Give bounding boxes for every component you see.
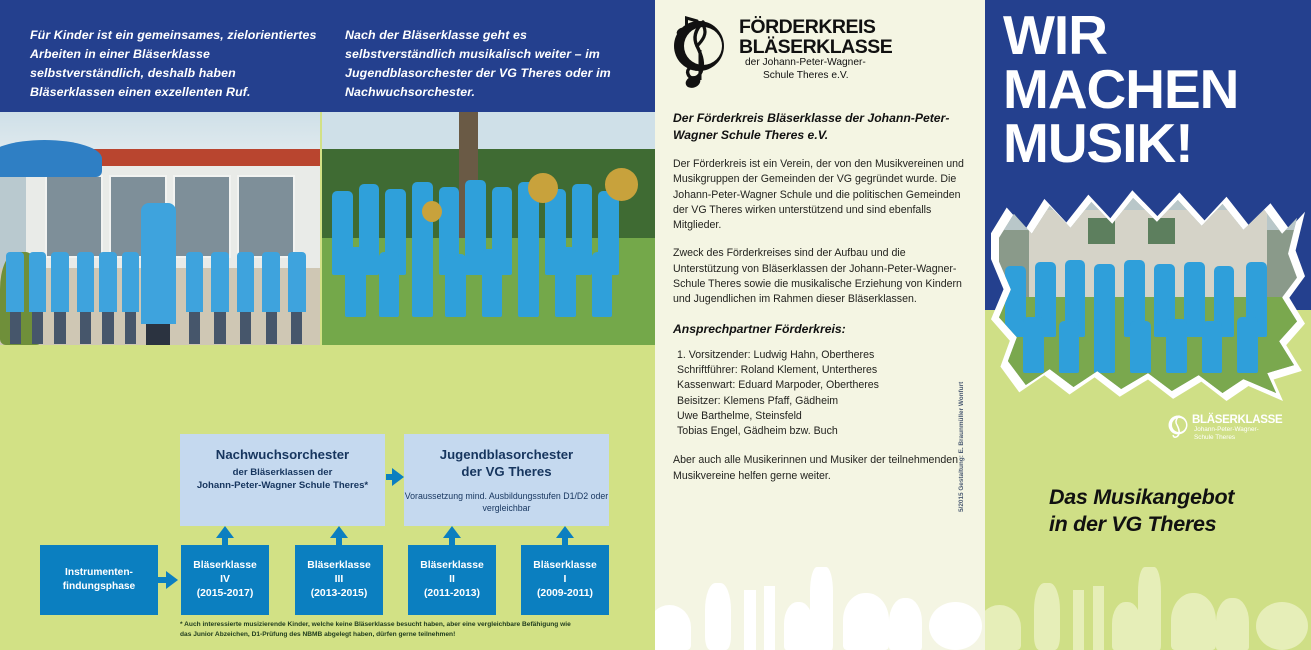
clarinet-silhouette-icon <box>1073 590 1084 650</box>
logo-wordmark: FÖRDERKREIS BLÄSERKLASSE der Johann-Pete… <box>739 18 892 82</box>
middle-paragraph-2: Zweck des Förderkreises sind der Aufbau … <box>673 246 967 307</box>
student <box>1237 317 1258 373</box>
class-box-blaeserklasse-ii: Bläserklasse II (2011-2013) <box>408 545 496 615</box>
euphonium-silhouette-icon <box>889 598 922 650</box>
logo-line-3: der Johann-Peter-Wagner- <box>739 57 892 70</box>
student <box>1023 317 1044 373</box>
student <box>345 247 366 317</box>
arrow-up-icon <box>216 526 234 538</box>
orchestra-title: Jugendblasorchester <box>404 446 609 463</box>
student <box>518 254 539 317</box>
brochure-page: Für Kinder ist ein gemeinsames, zielorie… <box>0 0 1311 650</box>
tuba <box>605 168 638 201</box>
class-line-2: findungsphase <box>63 580 135 594</box>
class-line-3: (2009-2011) <box>533 587 597 601</box>
class-box-blaeserklasse-i: Bläserklasse I (2009-2011) <box>521 545 609 615</box>
window <box>237 175 295 258</box>
photo-school-performance <box>0 112 320 345</box>
class-line-2: III <box>307 573 371 587</box>
orchestra-title: Nachwuchsorchester <box>180 446 385 463</box>
saxophone-silhouette-icon <box>1034 583 1060 650</box>
tuba-silhouette-icon <box>843 593 889 650</box>
diagram-footnote: * Auch interessierte musizierende Kinder… <box>180 620 580 639</box>
class-box-blaeserklasse-iii: Bläserklasse III (2013-2015) <box>295 545 383 615</box>
middle-panel: FÖRDERKREIS BLÄSERKLASSE der Johann-Pete… <box>655 0 985 650</box>
orchestra-line-3: Johann-Peter-Wagner Schule Theres* <box>180 479 385 492</box>
header-text-column-1: Für Kinder ist ein gemeinsames, zielorie… <box>30 26 320 102</box>
orchestra-subtitle: Voraussetzung mind. Ausbildungsstufen D1… <box>404 490 609 514</box>
class-line-2: I <box>533 573 597 587</box>
arrow-up-icon <box>556 526 574 538</box>
contact-item: 1. Vorsitzender: Ludwig Hahn, Obertheres <box>677 348 967 363</box>
student <box>51 252 69 313</box>
class-line-3: (2011-2013) <box>420 587 484 601</box>
orchestra-line-2: der Bläserklassen der <box>180 466 385 479</box>
contacts-list: 1. Vorsitzender: Ludwig Hahn, Obertheres… <box>673 348 967 440</box>
class-line-2: II <box>420 573 484 587</box>
tuba-silhouette-icon <box>655 605 691 650</box>
student <box>1059 321 1080 373</box>
french-horn-silhouette-icon <box>929 602 982 650</box>
shutter-window <box>1148 218 1175 244</box>
contacts-heading: Ansprechpartner Förderkreis: <box>673 321 967 338</box>
right-cover-panel: WIR MACHEN MUSIK! <box>985 0 1311 650</box>
treble-clef-notes-icon <box>673 16 735 90</box>
class-line-1: Instrumenten- <box>63 566 135 580</box>
tuba <box>528 173 558 203</box>
student <box>237 252 255 313</box>
cover-subtitle: Das Musikangebot in der VG Theres <box>1049 484 1299 538</box>
instruments-watermark <box>985 564 1311 650</box>
print-credit: 5/2015 Gestaltung: E. Braunmüller Wonfur… <box>958 377 965 512</box>
student <box>262 252 280 313</box>
trumpet-silhouette-icon <box>1112 602 1141 650</box>
class-box-instrumentenfindungsphase: Instrumenten- findungsphase <box>40 545 158 615</box>
middle-closing-text: Aber auch alle Musikerinnen und Musiker … <box>673 453 967 484</box>
clarinet-silhouette-icon <box>744 590 756 650</box>
contact-item: Uwe Barthelme, Steinsfeld <box>677 409 967 424</box>
french-horn <box>422 201 442 222</box>
clarinet-silhouette-icon <box>764 586 776 650</box>
blaeserklasse-logo-small: BLÄSERKLASSE Johann-Peter-Wagner- Schule… <box>1168 414 1298 441</box>
contact-item: Schriftführer: Roland Klement, Unterther… <box>677 363 967 378</box>
student <box>1130 321 1151 373</box>
student <box>445 254 466 317</box>
student <box>1094 319 1115 373</box>
arrow-up-icon <box>443 526 461 538</box>
trombone-silhouette-icon <box>1138 567 1161 650</box>
student <box>29 252 47 313</box>
class-line-3: (2013-2015) <box>307 587 371 601</box>
middle-content: FÖRDERKREIS BLÄSERKLASSE der Johann-Pete… <box>673 16 967 497</box>
student <box>77 252 95 313</box>
left-panel: Für Kinder ist ein gemeinsames, zielorie… <box>0 0 655 650</box>
logo-line-2: BLÄSERKLASSE <box>739 37 892 57</box>
conductor <box>141 203 176 324</box>
photo-group-outdoors <box>322 112 655 345</box>
header-text-column-2: Nach der Bläserklasse geht es selbstvers… <box>345 26 635 102</box>
treble-clef-icon <box>1168 414 1190 438</box>
student <box>412 249 433 317</box>
euphonium-silhouette-icon <box>1216 598 1249 650</box>
contact-item: Beisitzer: Klemens Pfaff, Gädheim <box>677 394 967 409</box>
student <box>1202 321 1223 373</box>
middle-paragraph-1: Der Förderkreis ist ein Verein, der von … <box>673 157 967 233</box>
french-horn-silhouette-icon <box>1256 602 1308 650</box>
trombone-silhouette-icon <box>810 567 833 650</box>
orchestra-box-jugendblasorchester: Jugendblasorchester der VG Theres Voraus… <box>404 434 609 526</box>
orchestra-box-nachwuchsorchester: Nachwuchsorchester der Bläserklassen der… <box>180 434 385 526</box>
instruments-watermark <box>655 564 985 650</box>
window <box>45 175 103 258</box>
sky <box>322 112 655 149</box>
student <box>288 252 306 313</box>
orchestra-line-2: der VG Theres <box>404 463 609 480</box>
student <box>379 252 400 317</box>
student <box>592 252 613 317</box>
class-line-1: Bläserklasse <box>533 559 597 573</box>
class-box-blaeserklasse-iv: Bläserklasse IV (2015-2017) <box>181 545 269 615</box>
contact-item: Tobias Engel, Gädheim bzw. Buch <box>677 424 967 439</box>
arrow-to-jugendblasorchester-icon <box>392 468 404 486</box>
student <box>99 252 117 313</box>
tuba-silhouette-icon <box>985 605 1021 650</box>
arrow-right-icon <box>166 571 178 589</box>
middle-heading: Der Förderkreis Bläserklasse der Johann-… <box>673 110 967 144</box>
cover-group-photo <box>999 194 1297 393</box>
class-line-2: IV <box>193 573 257 587</box>
window <box>173 175 231 258</box>
student <box>122 252 140 313</box>
logo-line-4: Schule Theres e.V. <box>739 70 892 83</box>
cover-title-line-3: MUSIK! <box>1003 116 1303 170</box>
contact-item: Kassenwart: Eduard Marpoder, Obertheres <box>677 378 967 393</box>
class-line-1: Bläserklasse <box>193 559 257 573</box>
arrow-up-icon <box>330 526 348 538</box>
cover-subtitle-line-2: in der VG Theres <box>1049 511 1299 538</box>
student <box>6 252 24 313</box>
class-line-1: Bläserklasse <box>420 559 484 573</box>
clarinet-silhouette-icon <box>1093 586 1104 650</box>
student <box>482 249 503 317</box>
saxophone-silhouette-icon <box>705 583 731 650</box>
tuba-silhouette-icon <box>1171 593 1217 650</box>
cover-subtitle-line-1: Das Musikangebot <box>1049 484 1299 511</box>
student <box>211 252 229 313</box>
parasol <box>0 140 102 177</box>
cover-title-line-2: MACHEN <box>1003 62 1303 116</box>
student <box>1166 319 1187 373</box>
student <box>186 252 204 313</box>
logo-line-1: FÖRDERKREIS <box>739 18 892 37</box>
student <box>555 247 576 317</box>
trumpet-silhouette-icon <box>784 602 814 650</box>
class-line-1: Bläserklasse <box>307 559 371 573</box>
class-line-3: (2015-2017) <box>193 587 257 601</box>
left-blue-header: Für Kinder ist ein gemeinsames, zielorie… <box>0 0 655 112</box>
cover-title: WIR MACHEN MUSIK! <box>1003 8 1303 170</box>
cover-title-line-1: WIR <box>1003 8 1303 62</box>
foerderkreis-logo: FÖRDERKREIS BLÄSERKLASSE der Johann-Pete… <box>673 16 967 96</box>
